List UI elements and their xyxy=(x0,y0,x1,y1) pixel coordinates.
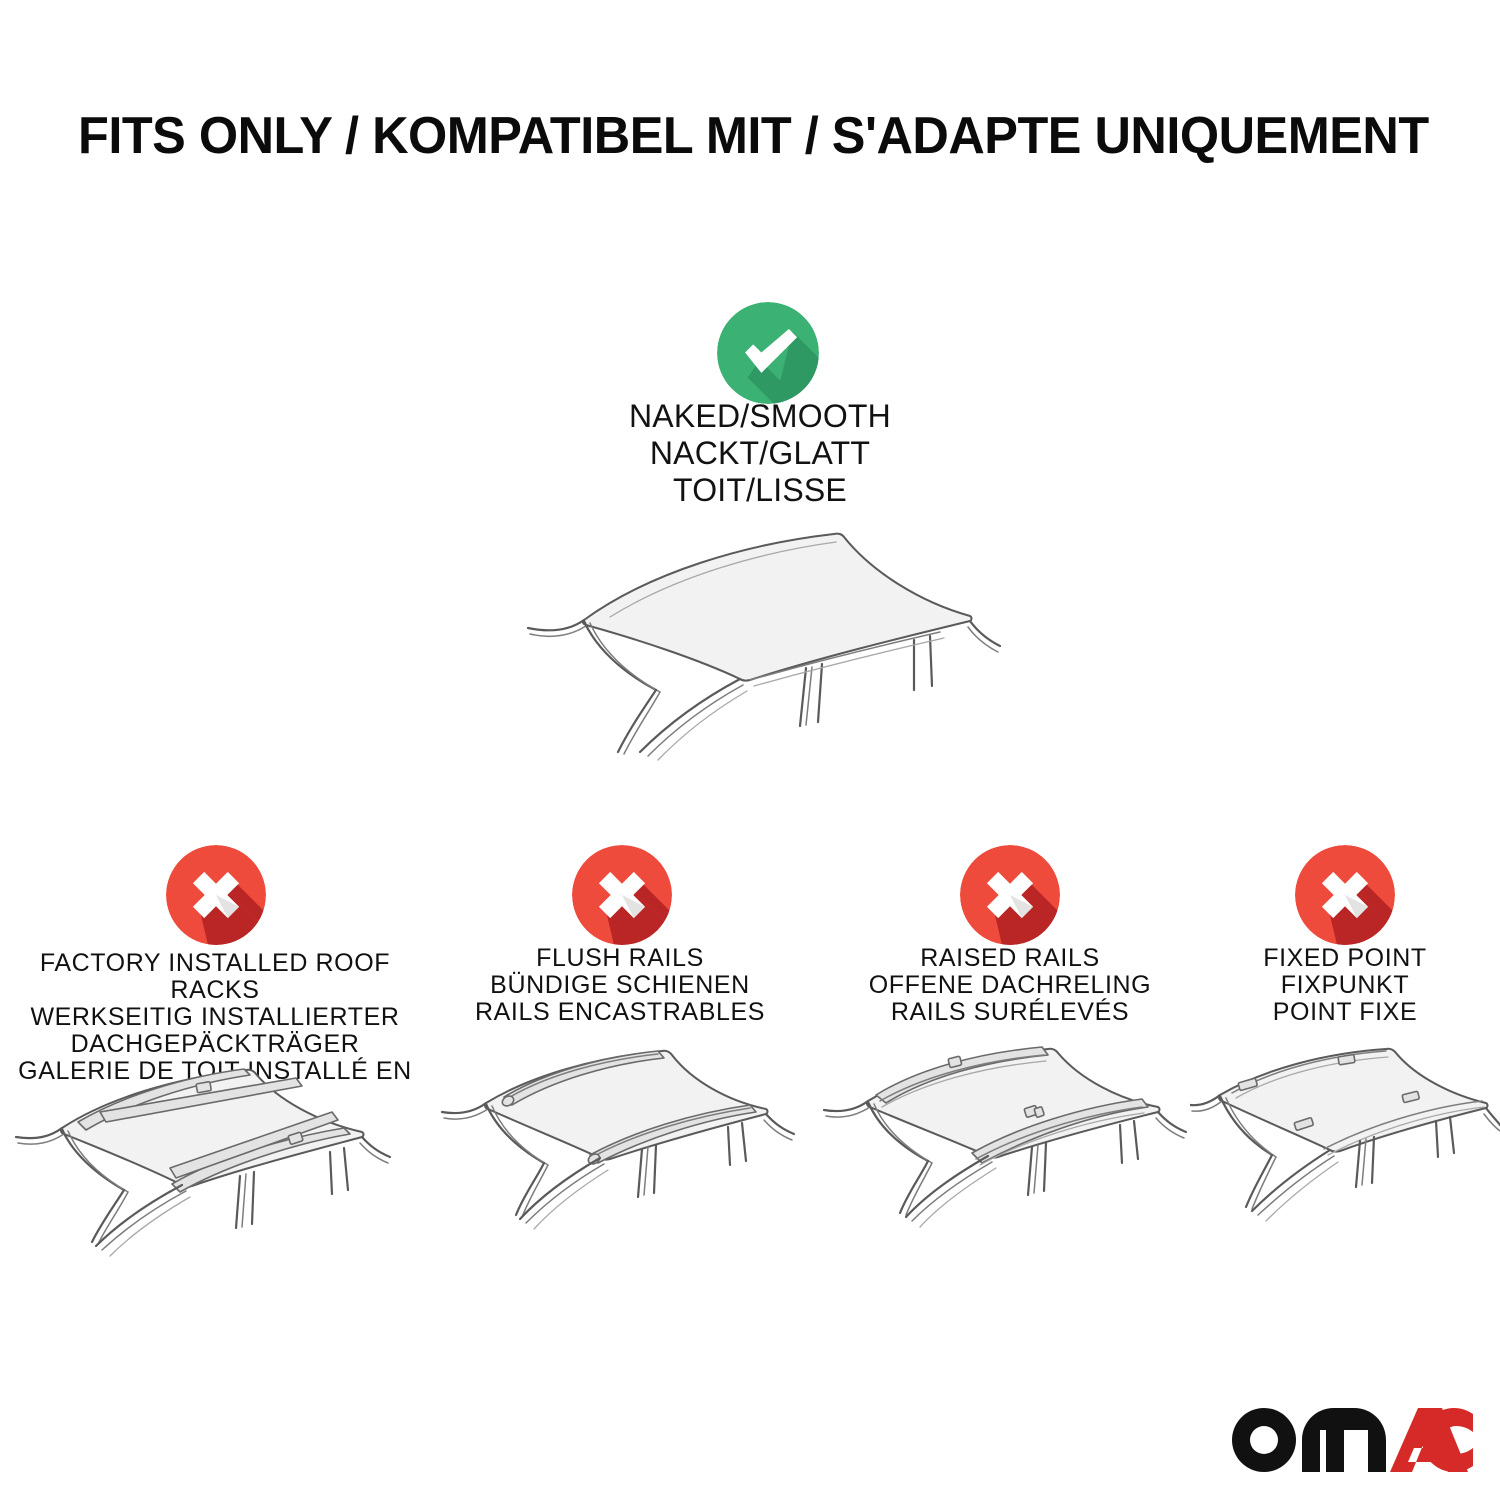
compatible-label-fr: TOIT/LISSE xyxy=(520,472,1000,509)
label-line-1: RAISED RAILS xyxy=(820,945,1200,972)
omac-logo xyxy=(1228,1404,1473,1476)
fitment-infographic: FITS ONLY / KOMPATIBEL MIT / S'ADAPTE UN… xyxy=(0,0,1500,1500)
label-line-3: RAILS SURÉLEVÉS xyxy=(820,999,1200,1026)
label-line-3: RAILS ENCASTRABLES xyxy=(440,999,800,1026)
incompatible-labels-flush-rails: FLUSH RAILS BÜNDIGE SCHIENEN RAILS ENCAS… xyxy=(440,945,800,1026)
cross-circle-icon xyxy=(572,845,672,945)
logo-letter-o xyxy=(1232,1408,1296,1472)
label-line-2: FIXPUNKT xyxy=(1190,972,1500,999)
car-roof-raised-rails-illustration xyxy=(820,1045,1200,1245)
incompatible-labels-raised-rails: RAISED RAILS OFFENE DACHRELING RAILS SUR… xyxy=(820,945,1200,1026)
cross-circle-icon xyxy=(166,845,266,945)
label-line-2: BÜNDIGE SCHIENEN xyxy=(440,972,800,999)
label-line-3: DACHGEPÄCKTRÄGER xyxy=(0,1031,430,1058)
car-roof-fixed-point-illustration xyxy=(1190,1045,1500,1245)
label-line-1: FLUSH RAILS xyxy=(440,945,800,972)
label-line-1: FIXED POINT xyxy=(1190,945,1500,972)
compatible-labels: NAKED/SMOOTH NACKT/GLATT TOIT/LISSE xyxy=(520,398,1000,509)
cross-circle-icon xyxy=(1295,845,1395,945)
cross-circle-icon xyxy=(960,845,1060,945)
car-roof-factory-racks-illustration xyxy=(0,1060,430,1260)
label-line-2: WERKSEITIG INSTALLIERTER xyxy=(0,1004,430,1031)
check-circle-icon xyxy=(717,302,819,404)
compatible-label-de: NACKT/GLATT xyxy=(520,435,1000,472)
car-roof-naked-smooth-illustration xyxy=(500,520,1020,800)
incompatible-labels-fixed-point: FIXED POINT FIXPUNKT POINT FIXE xyxy=(1190,945,1500,1026)
logo-letter-m xyxy=(1302,1408,1386,1472)
compatible-label-en: NAKED/SMOOTH xyxy=(520,398,1000,435)
label-line-1: FACTORY INSTALLED ROOF RACKS xyxy=(0,950,430,1004)
page-title: FITS ONLY / KOMPATIBEL MIT / S'ADAPTE UN… xyxy=(78,108,1388,165)
label-line-2: OFFENE DACHRELING xyxy=(820,972,1200,999)
car-roof-flush-rails-illustration xyxy=(440,1045,800,1245)
label-line-3: POINT FIXE xyxy=(1190,999,1500,1026)
